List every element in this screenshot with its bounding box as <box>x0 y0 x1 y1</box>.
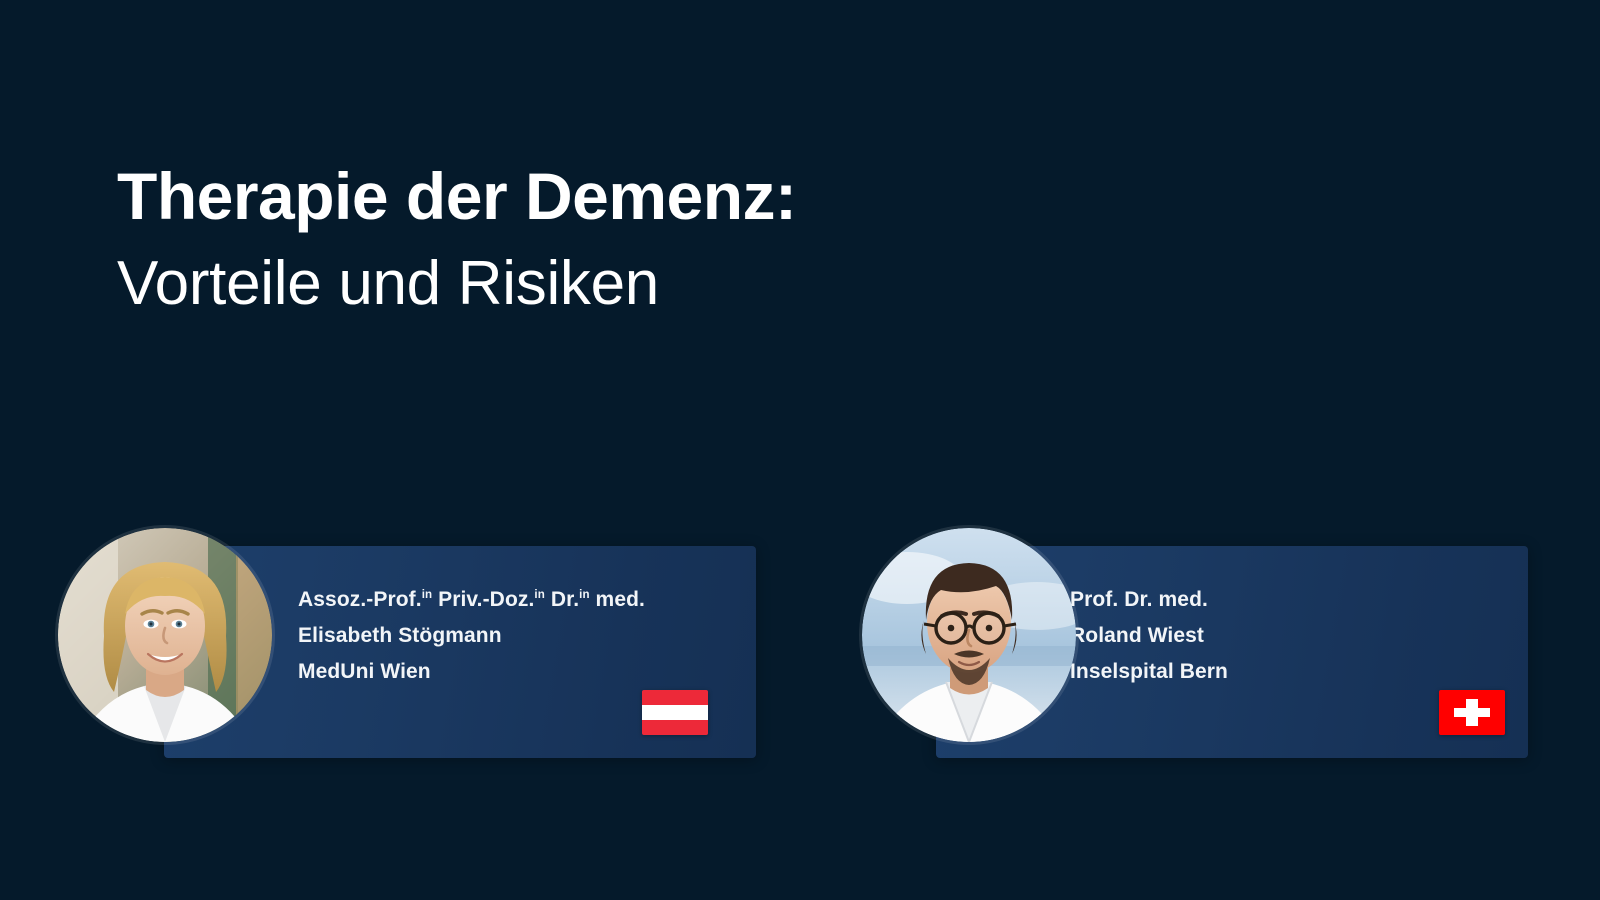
avatar-speaker-left <box>58 528 272 742</box>
austria-flag-icon <box>642 690 708 735</box>
avatar-speaker-right <box>862 528 1076 742</box>
page-title: Therapie der Demenz: <box>117 163 1217 229</box>
credentials-mid-2: Dr. <box>545 588 579 611</box>
speaker-right-name: Roland Wiest <box>1070 618 1228 654</box>
credentials-superscript-1: in <box>422 589 432 601</box>
credentials-superscript-2: in <box>534 589 544 601</box>
speaker-left-name: Elisabeth Stögmann <box>298 618 645 654</box>
switzerland-flag-icon <box>1439 690 1505 735</box>
speaker-left-text: Assoz.-Prof.in Priv.-Doz.in Dr.in med. E… <box>298 582 645 690</box>
speaker-right-affiliation: Inselspital Bern <box>1070 654 1228 690</box>
credentials-superscript-3: in <box>579 589 589 601</box>
credentials-prefix: Assoz.-Prof. <box>298 588 422 611</box>
speaker-left-affiliation: MedUni Wien <box>298 654 645 690</box>
speaker-right-text: Prof. Dr. med. Roland Wiest Inselspital … <box>1070 582 1228 690</box>
credentials-mid-1: Priv.-Doz. <box>432 588 534 611</box>
credentials-suffix: med. <box>590 588 645 611</box>
presentation-slide: Therapie der Demenz: Vorteile und Risike… <box>0 0 1600 900</box>
speaker-left-credentials: Assoz.-Prof.in Priv.-Doz.in Dr.in med. <box>298 582 645 618</box>
title-block: Therapie der Demenz: Vorteile und Risike… <box>117 163 1217 315</box>
speaker-right-credentials: Prof. Dr. med. <box>1070 582 1228 618</box>
page-subtitle: Vorteile und Risiken <box>117 253 1217 315</box>
